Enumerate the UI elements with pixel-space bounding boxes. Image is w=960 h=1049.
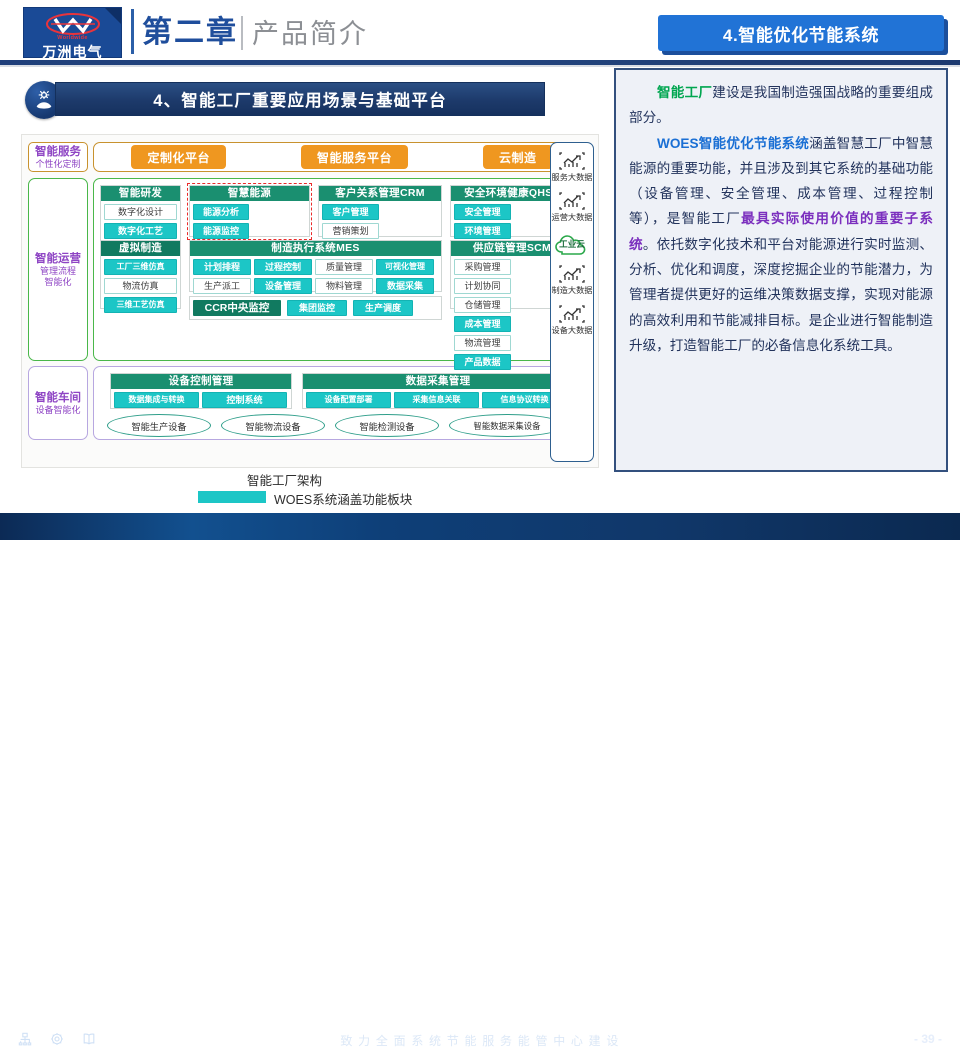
diagram-caption: 智能工厂架构 [247, 470, 322, 489]
module-mes-cell-3[interactable]: 可视化管理 [376, 259, 434, 275]
module-virtual-cell-0[interactable]: 工厂三维仿真 [104, 259, 177, 275]
module-mes-cell-1[interactable]: 过程控制 [254, 259, 312, 275]
bigdata-label-4: 设备大数据 [552, 326, 593, 336]
module-mes-cell-4[interactable]: 生产派工 [193, 278, 251, 294]
ccr-cell-0[interactable]: 集团监控 [287, 300, 347, 316]
module-scm-cell-2[interactable]: 仓储管理 [454, 297, 511, 313]
legend-swatch [198, 491, 266, 503]
header-divider [131, 9, 134, 54]
layer-label-smart-operation: 智能运营 管理流程 智能化 [28, 178, 88, 361]
desc-text-3: 。依托数字化技术和平台对能源进行实时监测、分析、优化和调度，深度挖掘企业的节能潜… [629, 237, 933, 353]
description-paragraph-2: WOES智能优化节能系统涵盖智慧工厂中智慧能源的重要功能，并且涉及到其它系统的基… [629, 131, 933, 359]
module-crm-cell-1[interactable]: 营销策划 [322, 223, 379, 239]
bigdata-item-0[interactable]: 服务大数据 [552, 150, 593, 183]
right-banner: 4.智能优化节能系统 [658, 15, 944, 51]
device-ellipse-1[interactable]: 智能物流设备 [221, 414, 325, 437]
layer-label-subtitle: 管理流程 [40, 266, 76, 277]
bigdata-column: 服务大数据 运营大数据 工业云 [550, 142, 594, 462]
module-mes-cell-5[interactable]: 设备管理 [254, 278, 312, 294]
module-equipment-control-title: 设备控制管理 [111, 374, 291, 389]
device-ellipse-2[interactable]: 智能检测设备 [335, 414, 439, 437]
bigdata-item-4[interactable]: 设备大数据 [552, 303, 593, 336]
module-crm-cell-0[interactable]: 客户管理 [322, 204, 379, 220]
description-paragraph-1: 智能工厂建设是我国制造强国战略的重要组成部分。 [629, 80, 933, 131]
module-mes-cell-6[interactable]: 物料管理 [315, 278, 373, 294]
module-equipment-control[interactable]: 设备控制管理 数据集成与转换 控制系统 [110, 373, 292, 409]
desc-highlight-blue: WOES智能优化节能系统 [657, 136, 809, 151]
module-virtual-title: 虚拟制造 [101, 241, 180, 256]
chapter-subtitle: 产品简介 [252, 18, 368, 50]
logo-english-text: Worldwide [24, 35, 121, 41]
module-mes-cell-0[interactable]: 计划排程 [193, 259, 251, 275]
ccr-title: CCR中央监控 [193, 300, 281, 316]
industrial-cloud-item[interactable]: 工业云 [552, 232, 592, 256]
module-scm-cell-0[interactable]: 采购管理 [454, 259, 511, 275]
platform-chip-0[interactable]: 定制化平台 [131, 145, 226, 169]
logo-corner-accent [105, 8, 121, 24]
module-scm-cell-1[interactable]: 计划协同 [454, 278, 511, 294]
module-crm-title: 客户关系管理CRM [319, 186, 441, 201]
layer-label-subtitle-2: 智能化 [44, 277, 71, 288]
module-scm-cell-5[interactable]: 产品数据 [454, 354, 511, 370]
section-title: 4、智能工厂重要应用场景与基础平台 [55, 82, 545, 116]
company-logo: Worldwide 万洲电气 [23, 7, 122, 58]
bigdata-item-1[interactable]: 运营大数据 [552, 190, 593, 223]
chart-icon [558, 190, 586, 212]
module-crm[interactable]: 客户关系管理CRM 客户管理 营销策划 销售管理 销售预测 [318, 185, 442, 237]
layer-label-subtitle: 个性化定制 [35, 159, 80, 170]
footer-slogan: 致 力 全 面 系 统 节 能 服 务 能 管 中 心 建 设 [0, 1032, 960, 1049]
device-ellipse-0[interactable]: 智能生产设备 [107, 414, 211, 437]
device-ellipse-3[interactable]: 智能数据采集设备 [449, 414, 565, 437]
layer-label-title: 智能服务 [35, 145, 81, 159]
desc-highlight-green: 智能工厂 [657, 85, 712, 100]
module-acq-cell-1[interactable]: 采集信息关联 [394, 392, 479, 408]
ccr-row[interactable]: CCR中央监控 集团监控 生产调度 [189, 296, 442, 320]
layer-label-title: 智能运营 [35, 252, 81, 266]
module-data-acquisition-title: 数据采集管理 [303, 374, 573, 389]
bigdata-label-1: 运营大数据 [552, 213, 593, 223]
module-scm-cell-3[interactable]: 成本管理 [454, 316, 511, 332]
module-data-acquisition[interactable]: 数据采集管理 设备配置部署 采集信息关联 信息协议转换 [302, 373, 574, 409]
module-acq-cell-0[interactable]: 设备配置部署 [306, 392, 391, 408]
module-virtual-cell-2[interactable]: 三维工艺仿真 [104, 297, 177, 313]
platform-chip-1[interactable]: 智能服务平台 [301, 145, 408, 169]
bigdata-label-0: 服务大数据 [552, 173, 593, 183]
layer-label-smart-service: 智能服务 个性化定制 [28, 142, 88, 172]
chart-icon [558, 263, 586, 285]
footer-page-number: - 39 - [914, 1032, 942, 1046]
module-mes-title: 制造执行系统MES [190, 241, 441, 256]
ccr-cell-1[interactable]: 生产调度 [353, 300, 413, 316]
module-qhse-cell-0[interactable]: 安全管理 [454, 204, 511, 220]
module-qhse-cell-1[interactable]: 环境管理 [454, 223, 511, 239]
logo-chinese-text: 万洲电气 [24, 42, 121, 62]
module-mes[interactable]: 制造执行系统MES 计划排程 过程控制 质量管理 可视化管理 生产派工 设备管理… [189, 240, 442, 292]
module-mes-cell-2[interactable]: 质量管理 [315, 259, 373, 275]
platform-chip-2[interactable]: 云制造 [483, 145, 553, 169]
layer-label-subtitle: 设备智能化 [35, 405, 80, 416]
chapter-title: 第二章 [142, 16, 238, 50]
footer-bar: 致 力 全 面 系 统 节 能 服 务 能 管 中 心 建 设 - 39 - [0, 513, 960, 540]
header-rule-light [0, 65, 960, 67]
module-rd-title: 智能研发 [101, 186, 180, 201]
slide-root: Worldwide 万洲电气 第二章 产品简介 4、智能工厂重要应用场景与基础平… [0, 0, 960, 540]
chapter-title-separator [241, 16, 243, 50]
bigdata-item-3[interactable]: 制造大数据 [552, 263, 593, 296]
chart-icon [558, 303, 586, 325]
module-rd-cell-0[interactable]: 数字化设计 [104, 204, 177, 220]
module-mes-cell-7[interactable]: 数据采集 [376, 278, 434, 294]
smart-factory-architecture-diagram: 智能服务 个性化定制 智能运营 管理流程 智能化 智能车间 设备智能化 定制化平… [21, 134, 599, 468]
bigdata-label-3: 制造大数据 [552, 286, 593, 296]
platform-row: 定制化平台 智能服务平台 云制造 [93, 142, 591, 172]
module-equip-cell-1[interactable]: 控制系统 [202, 392, 287, 408]
legend-label: WOES系统涵盖功能板块 [274, 489, 412, 508]
chart-icon [558, 150, 586, 172]
woes-highlight-frame [187, 183, 312, 240]
module-rd-cell-1[interactable]: 数字化工艺 [104, 223, 177, 239]
module-virtual[interactable]: 虚拟制造 工厂三维仿真 物流仿真 三维工艺仿真 [100, 240, 181, 309]
module-virtual-cell-1[interactable]: 物流仿真 [104, 278, 177, 294]
layer-label-smart-workshop: 智能车间 设备智能化 [28, 366, 88, 440]
cloud-icon-label: 工业云 [552, 232, 592, 256]
module-equip-cell-0[interactable]: 数据集成与转换 [114, 392, 199, 408]
description-panel: 智能工厂建设是我国制造强国战略的重要组成部分。 WOES智能优化节能系统涵盖智慧… [614, 68, 948, 472]
module-scm-cell-4[interactable]: 物流管理 [454, 335, 511, 351]
layer-label-title: 智能车间 [35, 391, 81, 405]
